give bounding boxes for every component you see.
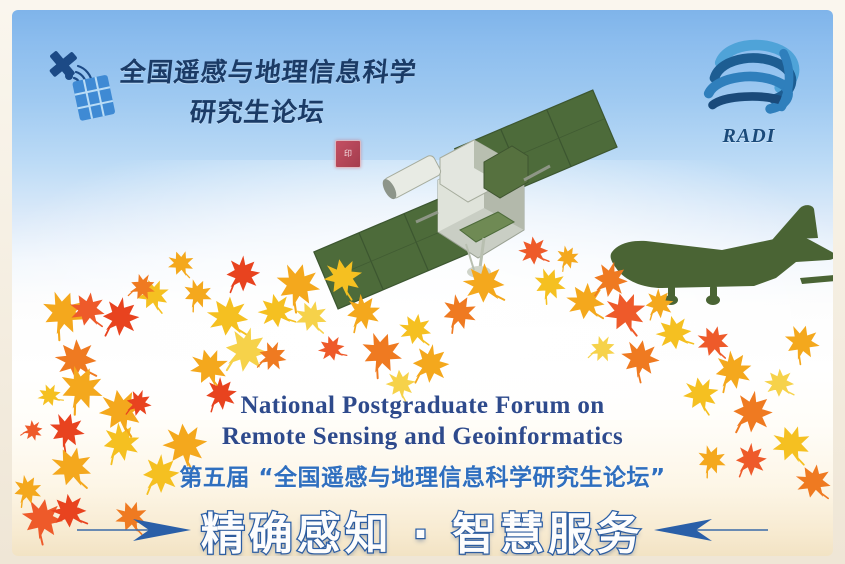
red-seal-stamp: 印 bbox=[335, 140, 361, 168]
satellite-signal-icon bbox=[42, 48, 124, 128]
english-title-line2: Remote Sensing and Geoinformatics bbox=[12, 421, 833, 452]
radi-wordmark: RADI bbox=[689, 125, 809, 148]
english-title: National Postgraduate Forum on Remote Se… bbox=[12, 390, 833, 452]
english-title-line1: National Postgraduate Forum on bbox=[240, 392, 604, 419]
airplane-silhouette bbox=[604, 200, 833, 315]
chinese-title: 第五届 “全国遥感与地理信息科学研究生论坛” bbox=[12, 458, 833, 492]
conference-poster: 全国遥感与地理信息科学 研究生论坛 印 RADI National Postgr… bbox=[12, 10, 833, 556]
forum-logo-block: 全国遥感与地理信息科学 研究生论坛 印 bbox=[40, 40, 400, 150]
radi-logo: RADI bbox=[689, 34, 809, 150]
arrow-left-icon bbox=[650, 515, 768, 545]
arrow-right-icon bbox=[77, 515, 195, 545]
logo-calligraphy-line2: 研究生论坛 bbox=[188, 92, 327, 129]
poster-frame: 全国遥感与地理信息科学 研究生论坛 印 RADI National Postgr… bbox=[0, 0, 845, 564]
slogan-row: 精确感知 · 智慧服务 bbox=[12, 497, 833, 556]
radi-globe-swoosh-icon bbox=[689, 34, 809, 130]
slogan-text: 精确感知 · 智慧服务 bbox=[201, 498, 644, 556]
logo-calligraphy-line1: 全国遥感与地理信息科学 bbox=[118, 52, 419, 89]
